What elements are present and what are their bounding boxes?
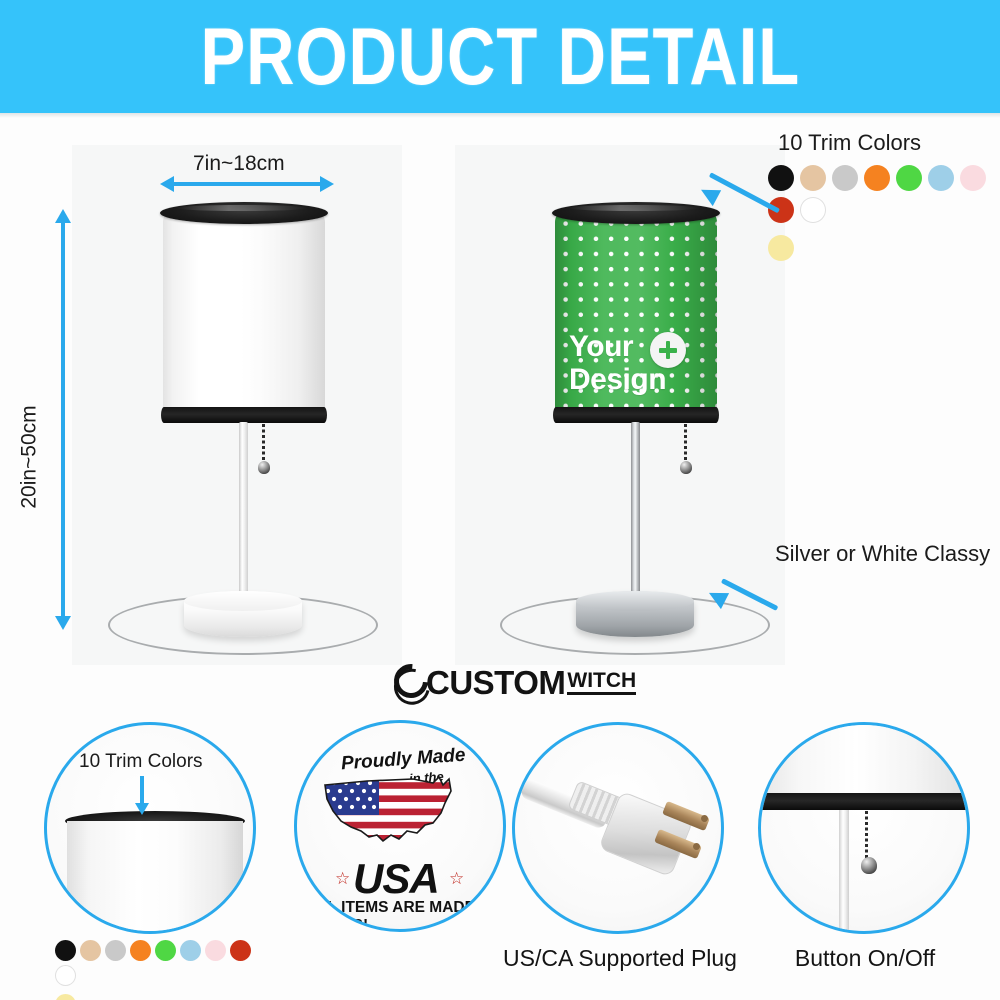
trim-swatch-light-blue[interactable] [928, 165, 954, 191]
usa-badge-subtitle: ALL ITEMS ARE MADE TO ORDER! [307, 899, 503, 932]
lamp-white-bottom-trim [161, 407, 327, 423]
lamp-custom-top-trim [552, 202, 720, 224]
trim-swatch-orange[interactable] [130, 940, 151, 961]
feature-circle-made-in-usa: Proudly Made in the [294, 720, 506, 932]
feature-circle-switch [758, 722, 970, 934]
width-arrow-head-left [160, 176, 174, 192]
trim-swatch-pink[interactable] [205, 940, 226, 961]
lamp-white-base-top [184, 591, 302, 611]
page-title: PRODUCT DETAIL [200, 16, 800, 97]
feature-plug-caption: US/CA Supported Plug [500, 945, 740, 972]
header-banner: PRODUCT DETAIL [0, 0, 1000, 113]
trim-swatch-gray[interactable] [105, 940, 126, 961]
lamp-custom-trim-highlight [568, 205, 700, 211]
width-arrow-line [172, 182, 322, 186]
logo-custom-text: CUSTOM [426, 668, 565, 698]
add-design-plus-icon[interactable] [650, 332, 686, 368]
lamp-custom-pull-chain[interactable] [684, 424, 687, 466]
usa-star-left: ☆ [335, 869, 350, 889]
trim-swatch-white[interactable] [800, 197, 826, 223]
trim-swatch-tan[interactable] [800, 165, 826, 191]
lamp-white-pole [239, 422, 248, 602]
feature-shade-body [67, 821, 243, 934]
height-dimension-label: 20in~50cm [18, 405, 42, 508]
base-finish-label: Silver or White Classy [775, 541, 990, 567]
product-detail-infographic: PRODUCT DETAIL 10 Trim Colors 7in~18cm 2… [0, 0, 1000, 1000]
feature-switch-chain[interactable] [865, 811, 868, 861]
height-arrow-line [61, 222, 65, 618]
lamp-custom-chain-ball[interactable] [680, 461, 692, 474]
trim-swatch-green[interactable] [896, 165, 922, 191]
feature-trim-arrow-head [135, 803, 149, 815]
height-arrow-head-bottom [55, 616, 71, 630]
trim-color-swatches-top[interactable] [768, 165, 1000, 261]
feature-trim-colors-title: 10 Trim Colors [79, 751, 203, 773]
trim-swatch-light-blue[interactable] [180, 940, 201, 961]
lamp-custom-base-top [576, 591, 694, 611]
logo-witch-text: WITCH [567, 670, 636, 695]
feature-trim-arrow-line [140, 776, 144, 806]
feature-switch-caption: Button On/Off [745, 945, 985, 972]
feature-circle-plug [512, 722, 724, 934]
trim-swatch-white[interactable] [55, 965, 76, 986]
trim-swatch-pink[interactable] [960, 165, 986, 191]
trim-swatch-gray[interactable] [832, 165, 858, 191]
trim-swatch-black[interactable] [55, 940, 76, 961]
trim-swatch-yellow[interactable] [768, 235, 794, 261]
trim-swatch-green[interactable] [155, 940, 176, 961]
width-dimension-label: 7in~18cm [193, 152, 285, 176]
usa-star-right: ☆ [449, 869, 464, 889]
trim-swatch-red[interactable] [230, 940, 251, 961]
trim-swatch-tan[interactable] [80, 940, 101, 961]
trim-color-swatches-bottom[interactable] [55, 940, 270, 1000]
feature-switch-chain-ball[interactable] [861, 857, 877, 874]
usa-badge-word: USA [353, 855, 439, 903]
lamp-custom-pole [631, 422, 640, 602]
brand-logo: CUSTOM WITCH [394, 664, 636, 698]
trim-swatch-yellow[interactable] [55, 994, 76, 1000]
feature-switch-shade-bottom [761, 725, 970, 797]
lamp-custom-shade[interactable]: Your Design [555, 212, 717, 422]
height-arrow-head-top [55, 209, 71, 223]
lamp-white-pull-chain[interactable] [262, 424, 265, 466]
design-line-2: Design [569, 363, 666, 396]
feature-switch-pole [839, 810, 849, 934]
lamp-custom-bottom-trim [553, 407, 719, 423]
banner-shadow [0, 113, 1000, 118]
lamp-white-chain-ball[interactable] [258, 461, 270, 474]
lamp-white-shade [163, 212, 325, 422]
trim-colors-title-top: 10 Trim Colors [778, 130, 921, 156]
usa-flag-map-icon [321, 769, 461, 855]
trim-swatch-orange[interactable] [864, 165, 890, 191]
feature-switch-trim [761, 793, 970, 810]
lamp-white-trim-highlight [176, 205, 308, 211]
trim-swatch-black[interactable] [768, 165, 794, 191]
width-arrow-head-right [320, 176, 334, 192]
your-design-text: Your Design [569, 330, 666, 396]
lamp-white-top-trim [160, 202, 328, 224]
